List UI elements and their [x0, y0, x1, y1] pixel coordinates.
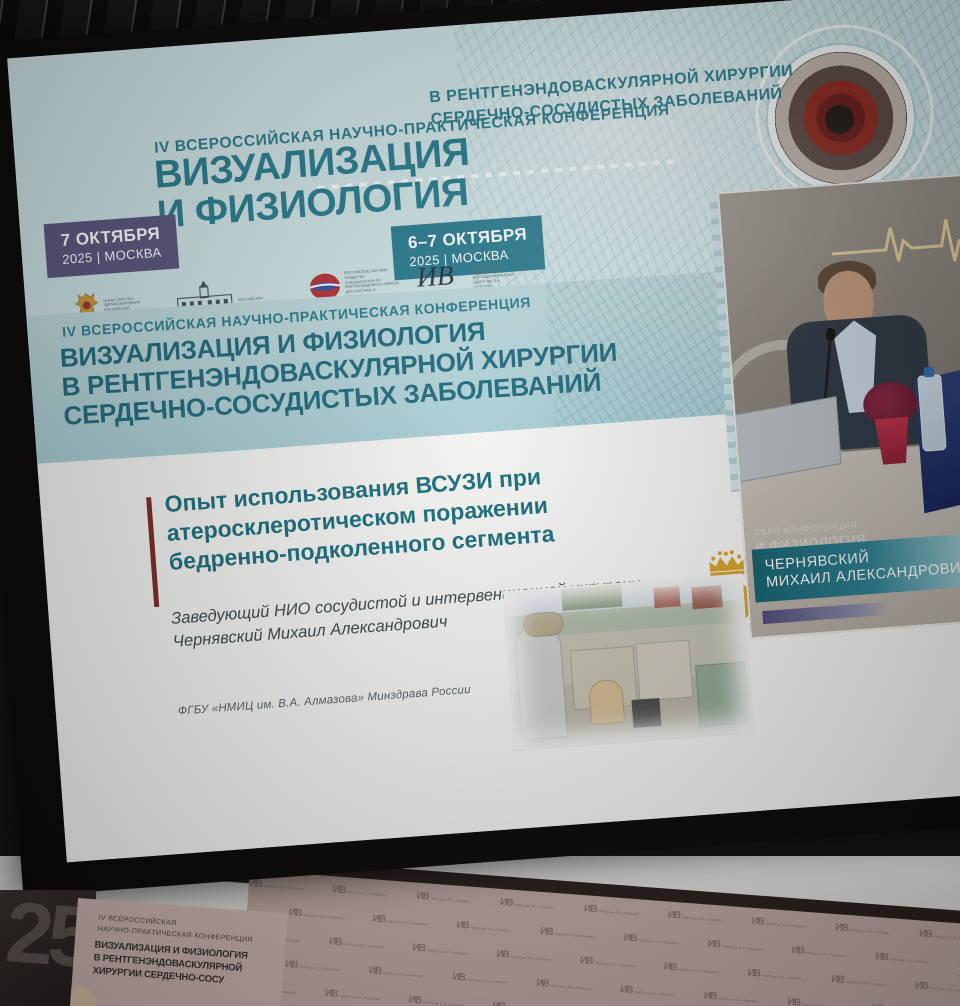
backdrop-logo: ИВНМИЦ им. В.А. Алмазова	[496, 949, 551, 964]
backdrop-logo: ИВНМИЦ им. В.А. Алмазова	[372, 913, 427, 928]
backdrop-logo: ИВНМИЦ им. В.А. Алмазова	[663, 961, 718, 976]
backdrop-logo: ИВНМИЦ им. В.А. Алмазова	[325, 988, 380, 1003]
title-accent-bar	[146, 497, 159, 607]
backdrop-logo: ИВНМИЦ им. В.А. Алмазова	[747, 968, 802, 983]
projection-screen: IV ВСЕРОССИЙСКАЯ НАУЧНО-ПРАКТИЧЕСКАЯ КОН…	[0, 0, 960, 897]
backdrop-logo: ИВНМИЦ им. В.А. Алмазова	[667, 909, 722, 924]
backdrop-logo: ИВНМИЦ им. В.А. Алмазова	[492, 1001, 547, 1006]
backdrop-logo: ИВНМИЦ им. В.А. Алмазова	[249, 878, 304, 893]
poster-title: ВИЗУАЛИЗАЦИЯ И ФИЗИОЛОГИЯ В РЕНТГЕНЭНДОВ…	[92, 939, 274, 991]
backdrop-logo: ИВНМИЦ им. В.А. Алмазова	[540, 926, 595, 941]
presentation-title: Опыт использования ВСУЗИ при атеросклеро…	[164, 454, 659, 577]
person-head-foreground	[70, 985, 97, 1006]
backdrop-logo: ИВНМИЦ им. В.А. Алмазова	[620, 984, 675, 999]
slide-surface: IV ВСЕРОССИЙСКАЯ НАУЧНО-ПРАКТИЧЕСКАЯ КОН…	[7, 0, 960, 862]
backdrop-logo: ИВНМИЦ им. В.А. Алмазова	[328, 936, 383, 951]
backdrop-logo: ИВНМИЦ им. В.А. Алмазова	[412, 942, 467, 957]
campus-aerial-photo	[503, 573, 754, 750]
backdrop-logo: ИВНМИЦ им. В.А. Алмазова	[831, 974, 886, 989]
backdrop-logo: ИВНМИЦ им. В.А. Алмазова	[536, 978, 591, 993]
photo-scene: ИВНМИЦ им. В.А. АлмазоваИВНМИЦ им. В.А. …	[0, 0, 960, 1006]
backdrop-logo: ИВНМИЦ им. В.А. Алмазова	[703, 990, 758, 1005]
backdrop-logo: ИВНМИЦ им. В.А. Алмазова	[624, 932, 679, 947]
backdrop-logo: ИВНМИЦ им. В.А. Алмазова	[707, 939, 762, 954]
date-badge-purple: 7 ОКТЯБРЯ 2025 | МОСКВА	[44, 215, 179, 278]
backdrop-logo: ИВНМИЦ им. В.А. Алмазова	[835, 922, 890, 937]
backdrop-logo: ИВНМИЦ им. В.А. Алмазова	[500, 897, 555, 912]
backdrop-logo: ИВНМИЦ им. В.А. Алмазова	[289, 907, 344, 922]
backdrop-logo: ИВНМИЦ им. В.А. Алмазова	[791, 945, 846, 960]
backdrop-logo: ИВНМИЦ им. В.А. Алмазова	[584, 903, 639, 918]
backdrop-logo: ИВНМИЦ им. В.А. Алмазова	[285, 959, 340, 974]
backdrop-logo: ИВНМИЦ им. В.А. Алмазова	[915, 980, 960, 995]
backdrop-logo: ИВНМИЦ им. В.А. Алмазова	[452, 972, 507, 987]
speaker-video-inset: СКАЯ КОНФЕРЕНЦИЯ И ФИЗИОЛОГИЯ ЧЕРНЯВСКИЙ…	[717, 173, 960, 639]
backdrop-logo: ИВНМИЦ им. В.А. Алмазова	[456, 920, 511, 935]
backdrop-logo: ИВНМИЦ им. В.А. Алмазова	[919, 928, 960, 943]
backdrop-logo: ИВНМИЦ им. В.А. Алмазова	[416, 891, 471, 906]
backdrop-logo: ИВНМИЦ им. В.А. Алмазова	[408, 994, 463, 1006]
backdrop-logo: ИВНМИЦ им. В.А. Алмазова	[751, 916, 806, 931]
backdrop-logo: ИВНМИЦ им. В.А. Алмазова	[580, 955, 635, 970]
backdrop-logo: ИВНМИЦ им. В.А. Алмазова	[875, 951, 930, 966]
backdrop-logo: ИВНМИЦ им. В.А. Алмазова	[368, 965, 423, 980]
date-badge-purple-place: 2025 | МОСКВА	[62, 246, 162, 268]
backdrop-logo: ИВНМИЦ им. В.А. Алмазова	[787, 997, 842, 1006]
conference-poster-stand: IV ВСЕРОССИЙСКАЯ НАУЧНО-ПРАКТИЧЕСКАЯ КОН…	[70, 898, 287, 1006]
backdrop-logo: ИВНМИЦ им. В.А. Алмазова	[332, 884, 387, 899]
